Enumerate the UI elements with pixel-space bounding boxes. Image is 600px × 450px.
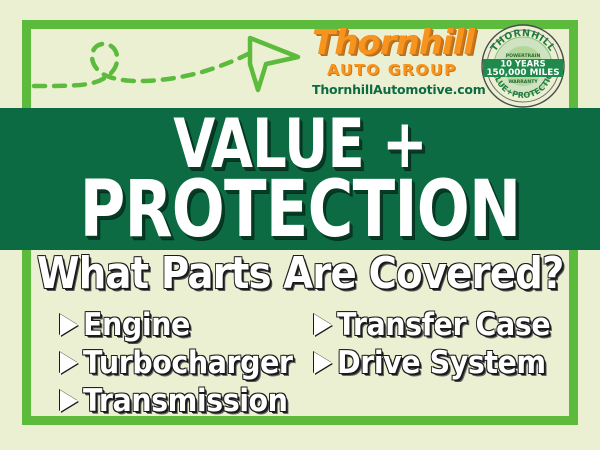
thornhill-logo: Thornhill AUTO GROUP ThornhillAutomotive… (312, 26, 472, 106)
headline: VALUE + PROTECTION (0, 112, 600, 248)
list-item: Turbocharger (60, 344, 298, 382)
list-item: Engine (60, 306, 298, 344)
badge-warranty-text: WARRANTY (508, 79, 538, 85)
triangle-bullet-icon (60, 352, 78, 374)
triangle-bullet-icon (60, 314, 78, 336)
warranty-badge: THORNHILL VALUE+PROTECTION POWERTRAIN 10… (481, 24, 565, 108)
list-item: Transfer Case (314, 306, 550, 344)
badge-miles-text: 150,000 MILES (486, 68, 559, 78)
triangle-bullet-icon (60, 390, 78, 412)
logo-website-url: ThornhillAutomotive.com (312, 82, 472, 97)
part-label: Drive System (337, 348, 546, 379)
logo-wordmark: Thornhill (312, 26, 472, 60)
covered-parts-list: Engine Turbocharger Transmission Transfe… (60, 306, 550, 420)
dashed-loop-path-icon (26, 24, 306, 106)
part-label: Engine (83, 310, 190, 341)
part-label: Transfer Case (337, 310, 550, 341)
list-item: Transmission (60, 382, 298, 420)
triangle-bullet-icon (314, 314, 332, 336)
logo-subtitle: AUTO GROUP (312, 61, 472, 79)
subheading: What Parts Are Covered? (0, 252, 600, 296)
parts-column-left: Engine Turbocharger Transmission (60, 306, 298, 420)
subheading-text: What Parts Are Covered? (37, 252, 564, 296)
parts-column-right: Transfer Case Drive System (314, 306, 550, 420)
part-label: Transmission (83, 386, 288, 417)
list-item: Drive System (314, 344, 550, 382)
triangle-bullet-icon (314, 352, 332, 374)
badge-years-text: 10 YEARS (500, 59, 545, 69)
value-protection-ad: Thornhill AUTO GROUP ThornhillAutomotive… (0, 0, 600, 450)
part-label: Turbocharger (83, 348, 293, 379)
headline-line-2: PROTECTION (60, 173, 540, 248)
